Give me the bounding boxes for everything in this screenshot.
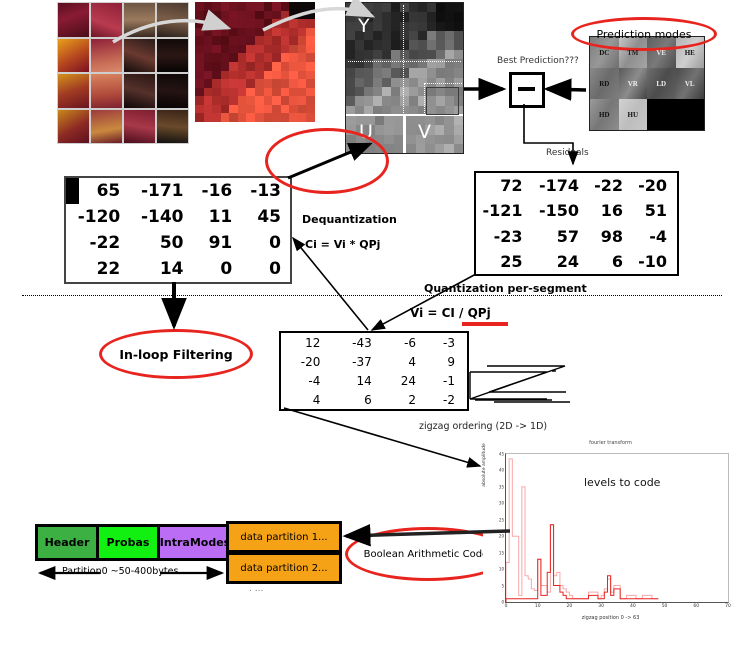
- matrix-row: 221400: [66, 256, 290, 282]
- quantization-label: Quantization per-segment: [424, 282, 587, 295]
- chart-series-group: [506, 454, 728, 602]
- matrix-row: -121-1501651: [476, 198, 677, 223]
- y-plane-label: Y: [358, 15, 370, 37]
- prediction-subtract-node: [509, 72, 545, 108]
- macroblock-cell: [124, 74, 155, 108]
- matrix-row: 65-171-16-13: [66, 178, 290, 204]
- segment-divider: [22, 295, 722, 296]
- matrix-row: 25246-10: [476, 249, 677, 274]
- v-plane: [406, 116, 463, 153]
- macroblock-cell: [157, 39, 188, 73]
- quantization-formula-underline: [462, 322, 508, 326]
- macroblock-cell: [157, 74, 188, 108]
- quantization-formula: Vi = CI / QPj: [410, 306, 491, 320]
- macroblock-cell: [91, 110, 122, 144]
- chart-x-tick: 20: [567, 604, 573, 609]
- chart-y-tick: 20: [499, 534, 504, 539]
- matrix-corner-marker: [66, 178, 79, 204]
- macroblock-cell: [157, 3, 188, 37]
- chart-series-series-light: [506, 459, 658, 602]
- data-partition-ellipsis: . ...: [249, 584, 263, 594]
- matrix-row: 72-174-22-20: [476, 173, 677, 198]
- chart-x-tick: 40: [630, 604, 636, 609]
- data-partition-1-block: data partition 1...: [226, 521, 342, 553]
- prediction-modes-label: Prediction modes: [596, 28, 691, 41]
- macroblock-cell: [91, 74, 122, 108]
- macroblock-cell: [124, 110, 155, 144]
- boolean-arithmetic-coder-label: Boolean Arithmetic Coder: [364, 549, 493, 560]
- bitstream-probas-block: Probas: [96, 524, 160, 561]
- matrix-row: 462-2: [281, 390, 467, 409]
- chart-y-tick: 45: [499, 452, 504, 457]
- chart-x-axis-label: zigzag position 0 -> 63: [483, 615, 738, 621]
- prediction-mode-cell: HD: [590, 99, 619, 130]
- chart-y-axis-label: absolute amplitude: [482, 435, 487, 495]
- macroblock-cell: [58, 74, 89, 108]
- dequantization-formula: Ci = Vi * QPj: [305, 238, 380, 251]
- data-partition-2-block: data partition 2...: [226, 552, 342, 584]
- prediction-modes-callout-ellipse: Prediction modes: [571, 17, 717, 51]
- in-loop-filtering-ellipse: In-loop Filtering: [99, 329, 253, 379]
- luma-block-callout-ellipse: [265, 128, 389, 194]
- prediction-mode-cell: [647, 99, 676, 130]
- matrix-row: -120-1401145: [66, 204, 290, 230]
- prediction-mode-cell: VL: [676, 68, 705, 99]
- chart-y-tick: 10: [499, 567, 504, 572]
- chart-x-tick: 10: [535, 604, 541, 609]
- macroblock-cell: [124, 39, 155, 73]
- macroblock-cell: [58, 110, 89, 144]
- residuals-matrix: 72-174-22-20 -121-1501651 -235798-4 2524…: [474, 171, 679, 276]
- source-photo-macroblock-grid: [57, 2, 189, 144]
- macroblock-cell: [124, 3, 155, 37]
- prediction-mode-cell: LD: [647, 68, 676, 99]
- macroblock-cell: [157, 110, 188, 144]
- chart-x-tick: 0: [505, 604, 508, 609]
- chart-x-tick: 60: [693, 604, 699, 609]
- prediction-mode-cell: VR: [619, 68, 648, 99]
- macroblock-cell: [58, 39, 89, 73]
- chart-y-tick: 40: [499, 468, 504, 473]
- macroblock-cell: [91, 39, 122, 73]
- partition0-size-note: Partition0 ~50-400bytes: [62, 566, 178, 577]
- macroblock-cell: [58, 3, 89, 37]
- chart-y-tick: 30: [499, 501, 504, 506]
- dequantization-label: Dequantization: [302, 213, 397, 226]
- matrix-row: 12-43-6-3: [281, 333, 467, 352]
- v-plane-label: V: [418, 121, 431, 143]
- residuals-label: Residuals: [546, 148, 589, 158]
- quantized-coefficients-matrix: 12-43-6-3 -20-3749 -41424-1 462-2: [279, 331, 469, 411]
- prediction-mode-cell: HU: [619, 99, 648, 130]
- zoomed-pixel-block: [195, 2, 315, 122]
- chart-y-tick: 15: [499, 550, 504, 555]
- zigzag-ordering-label: zigzag ordering (2D -> 1D): [419, 421, 547, 432]
- chart-plot-area: levels to code 0510152025303540450102030…: [505, 453, 729, 603]
- dequantized-coefficients-matrix: 65-171-16-13 -120-1401145 -2250910 22140…: [64, 176, 292, 284]
- prediction-mode-cell: [676, 99, 705, 130]
- in-loop-filtering-label: In-loop Filtering: [119, 347, 232, 362]
- chart-y-tick: 35: [499, 484, 504, 489]
- matrix-row: -2250910: [66, 230, 290, 256]
- matrix-row: -235798-4: [476, 224, 677, 249]
- chart-y-tick: 5: [501, 583, 504, 588]
- yuv-planes-panel: Y U V: [345, 2, 464, 154]
- coefficient-histogram-chart: fourier transform absolute amplitude zig…: [483, 440, 738, 640]
- matrix-row: -41424-1: [281, 371, 467, 390]
- chart-series-series-dark: [506, 525, 658, 602]
- best-prediction-label: Best Prediction???: [497, 56, 579, 66]
- chart-x-tick: 50: [662, 604, 668, 609]
- chart-x-tick: 30: [598, 604, 604, 609]
- prediction-mode-cell: RD: [590, 68, 619, 99]
- macroblock-cell: [91, 3, 122, 37]
- bitstream-header-block: Header: [35, 524, 99, 561]
- chart-y-tick: 25: [499, 517, 504, 522]
- bitstream-intramodes-block: IntraModes: [157, 524, 233, 561]
- chart-title: fourier transform: [483, 440, 738, 446]
- chart-x-tick: 70: [725, 604, 731, 609]
- matrix-row: -20-3749: [281, 352, 467, 371]
